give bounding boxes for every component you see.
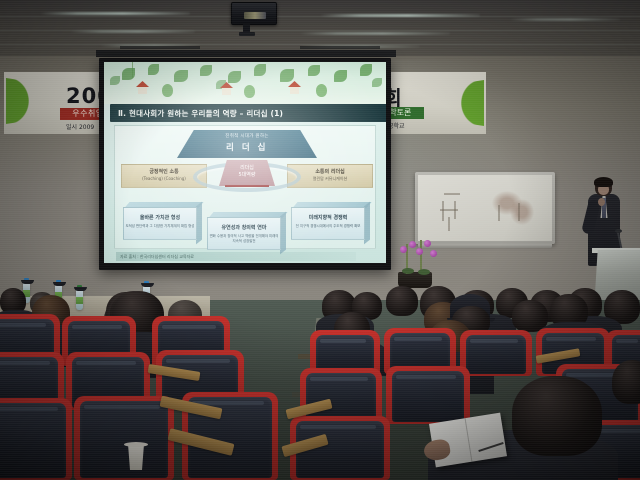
diagram-right-title: 소통의 리더십 — [288, 168, 372, 175]
diagram-header-small: 진취적 시대가 원하는 — [177, 133, 317, 139]
screen-mount-rail-right — [300, 46, 380, 49]
slide-diagram: 진취적 시대가 원하는 리 더 십 긍정적인 소통 (Teaching) (Co… — [114, 125, 376, 249]
diagram-cube-1: 올바른 가치관 형성 도덕성 판단력과 그 다양한 가치체계의 확립 형성 — [123, 202, 197, 240]
projection-screen: Ⅱ. 현대사회가 원하는 우리들의 역량 – 리더십 (1) 진취적 시대가 원… — [99, 58, 391, 270]
screen-mount-rail-left — [120, 46, 200, 49]
cube-1-title: 올바른 가치관 형성 — [124, 214, 196, 221]
screen-surface: Ⅱ. 현대사회가 원하는 우리들의 역량 – 리더십 (1) 진취적 시대가 원… — [104, 62, 386, 263]
slide-title: Ⅱ. 현대사회가 원하는 우리들의 역량 – 리더십 (1) — [110, 104, 386, 122]
cube-3-sub: 전 지구적 경쟁시대에서의 주도적 경쟁력 확보 — [292, 224, 364, 229]
audience-head — [386, 286, 418, 316]
cube-1-sub: 도덕성 판단력과 그 다양한 가치체계의 확립 형성 — [124, 224, 196, 229]
presenter-hair — [594, 177, 613, 187]
orchid-bloom — [400, 246, 407, 253]
cube-2-sub: 변화 수용과 창의적 사고 역량을 전개해야 미래의 지속적 성장발전 — [208, 234, 280, 244]
banner-left-sub: 일시 2009 — [66, 122, 94, 131]
diagram-core-shape: 리더십 5대역량 — [219, 160, 275, 186]
presenter-hand — [598, 198, 605, 206]
whiteboard-surface — [418, 175, 552, 241]
foreground-person-head — [512, 376, 602, 456]
orchid-bloom — [430, 250, 437, 257]
screen-mount-bar — [96, 50, 396, 57]
diagram-core-line1: 리더십 — [219, 165, 275, 172]
diagram-cube-2: 유연성과 창의력 연마 변화 수용과 창의적 사고 역량을 전개해야 미래의 지… — [207, 212, 281, 250]
audience-head — [612, 360, 640, 404]
orchid-bloom — [416, 248, 423, 255]
microphone-icon — [615, 229, 622, 233]
projector-mount-plate — [239, 32, 255, 36]
diagram-header-big: 리 더 십 — [177, 141, 317, 153]
diagram-cube-3: 미래지향적 경쟁력 전 지구적 경쟁시대에서의 주도적 경쟁력 확보 — [291, 202, 365, 240]
whiteboard — [415, 172, 555, 244]
slide-leaf-banner-image — [104, 62, 386, 104]
presentation-slide: Ⅱ. 현대사회가 원하는 우리들의 역량 – 리더십 (1) 진취적 시대가 원… — [104, 62, 386, 263]
projector-lens-icon — [244, 12, 266, 19]
auditorium-seat[interactable] — [460, 330, 532, 376]
diagram-core-line2: 5대역량 — [219, 172, 275, 179]
auditorium-seat[interactable] — [74, 396, 174, 480]
auditorium-seat[interactable] — [0, 398, 72, 480]
orchid-bloom — [424, 240, 431, 247]
whiteboard-marker-tray — [418, 244, 552, 248]
lecture-hall-photo: 200 우수취업 일시 2009 수회 강전학토론 학교 환경공학교 — [0, 0, 640, 480]
water-bottle — [76, 288, 83, 310]
orchid-bloom — [409, 241, 416, 248]
cube-2-title: 유연성과 창의력 연마 — [208, 224, 280, 231]
paper-cup-rim — [124, 442, 148, 447]
slide-footer-note: 자료 출처 : 한국리더십센터 리더십 교육자료 — [116, 252, 356, 261]
diagram-header-band: 진취적 시대가 원하는 리 더 십 — [177, 130, 317, 158]
cube-3-title: 미래지향적 경쟁력 — [292, 214, 364, 221]
projector-icon — [231, 2, 277, 25]
auditorium-seat[interactable] — [386, 366, 470, 424]
diagram-core-underline — [225, 185, 269, 187]
